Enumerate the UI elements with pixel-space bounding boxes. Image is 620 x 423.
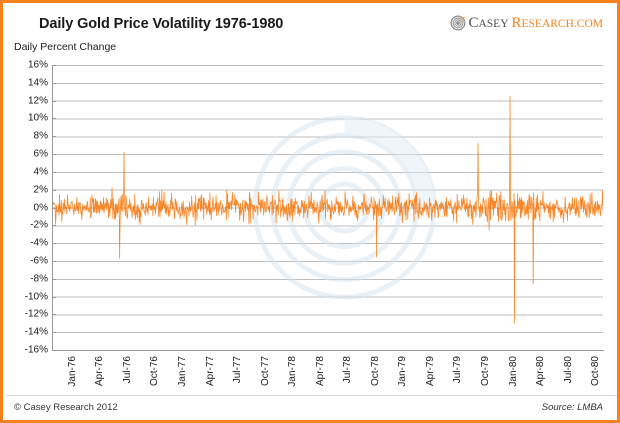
y-tick-label: 16% bbox=[4, 60, 48, 71]
x-tick-label: Apr-77 bbox=[205, 356, 216, 386]
y-tick-mark bbox=[52, 314, 56, 315]
y-tick-mark bbox=[52, 243, 56, 244]
y-tick-label: -8% bbox=[4, 273, 48, 284]
x-axis-labels: Jan-76Apr-76Jul-76Oct-76Jan-77Apr-77Jul-… bbox=[3, 350, 620, 395]
y-tick-mark bbox=[52, 136, 56, 137]
casey-spiral-icon bbox=[450, 15, 466, 31]
y-tick-mark bbox=[52, 65, 56, 66]
x-tick-label: Jul-78 bbox=[342, 356, 353, 383]
x-tick-label: Jul-79 bbox=[452, 356, 463, 383]
y-tick-label: -4% bbox=[4, 238, 48, 249]
x-tick-label: Apr-76 bbox=[94, 356, 105, 386]
x-tick-label: Jan-80 bbox=[508, 356, 519, 387]
y-tick-mark bbox=[52, 154, 56, 155]
x-tick-label: Oct-77 bbox=[260, 356, 271, 386]
volatility-series-line bbox=[52, 65, 603, 350]
y-tick-mark bbox=[52, 261, 56, 262]
x-tick-label: Apr-80 bbox=[535, 356, 546, 386]
x-tick-label: Jan-76 bbox=[67, 356, 78, 387]
plot-area bbox=[52, 65, 603, 350]
y-tick-mark bbox=[52, 118, 56, 119]
y-tick-label: -14% bbox=[4, 327, 48, 338]
copyright-note: © Casey Research 2012 bbox=[14, 402, 118, 413]
x-tick-label: Jan-79 bbox=[397, 356, 408, 387]
x-tick-label: Jan-78 bbox=[287, 356, 298, 387]
page-title: Daily Gold Price Volatility 1976-1980 bbox=[39, 16, 283, 32]
casey-research-logo: CASEY RESEARCH.COM bbox=[450, 13, 603, 33]
x-tick-label: Oct-76 bbox=[149, 356, 160, 386]
y-axis-labels: 16%14%12%10%8%6%4%2%0%-2%-4%-6%-8%-10%-1… bbox=[3, 65, 48, 350]
y-tick-mark bbox=[52, 208, 56, 209]
x-tick-label: Jul-77 bbox=[232, 356, 243, 383]
y-tick-mark bbox=[52, 225, 56, 226]
x-axis-line bbox=[52, 350, 604, 351]
x-tick-label: Jul-80 bbox=[563, 356, 574, 383]
chart-figure: Daily Gold Price Volatility 1976-1980 Da… bbox=[0, 0, 620, 423]
y-tick-label: 10% bbox=[4, 113, 48, 124]
y-tick-label: 14% bbox=[4, 77, 48, 88]
y-tick-mark bbox=[52, 101, 56, 102]
x-tick-label: Oct-79 bbox=[480, 356, 491, 386]
footer-divider bbox=[6, 395, 620, 396]
source-note: Source: LMBA bbox=[542, 402, 603, 413]
y-tick-label: 4% bbox=[4, 166, 48, 177]
x-tick-label: Jan-77 bbox=[177, 356, 188, 387]
y-tick-label: -2% bbox=[4, 220, 48, 231]
logo-word-research: RESEARCH.COM bbox=[512, 16, 604, 31]
y-tick-mark bbox=[52, 297, 56, 298]
y-tick-mark bbox=[52, 279, 56, 280]
y-tick-label: -6% bbox=[4, 255, 48, 266]
y-tick-label: 2% bbox=[4, 184, 48, 195]
y-tick-label: 8% bbox=[4, 131, 48, 142]
y-tick-label: -10% bbox=[4, 291, 48, 302]
y-tick-mark bbox=[52, 83, 56, 84]
x-tick-label: Apr-78 bbox=[315, 356, 326, 386]
y-tick-label: -12% bbox=[4, 309, 48, 320]
y-tick-mark bbox=[52, 332, 56, 333]
y-tick-mark bbox=[52, 190, 56, 191]
x-tick-label: Jul-76 bbox=[122, 356, 133, 383]
y-tick-label: 6% bbox=[4, 149, 48, 160]
y-tick-label: 0% bbox=[4, 202, 48, 213]
x-tick-label: Oct-78 bbox=[370, 356, 381, 386]
chart-subtitle: Daily Percent Change bbox=[14, 41, 116, 53]
y-tick-label: 12% bbox=[4, 95, 48, 106]
x-tick-label: Oct-80 bbox=[590, 356, 601, 386]
y-tick-mark bbox=[52, 172, 56, 173]
logo-word-casey: CASEY bbox=[468, 16, 508, 31]
x-tick-label: Apr-79 bbox=[425, 356, 436, 386]
y-tick-mark bbox=[52, 350, 56, 351]
